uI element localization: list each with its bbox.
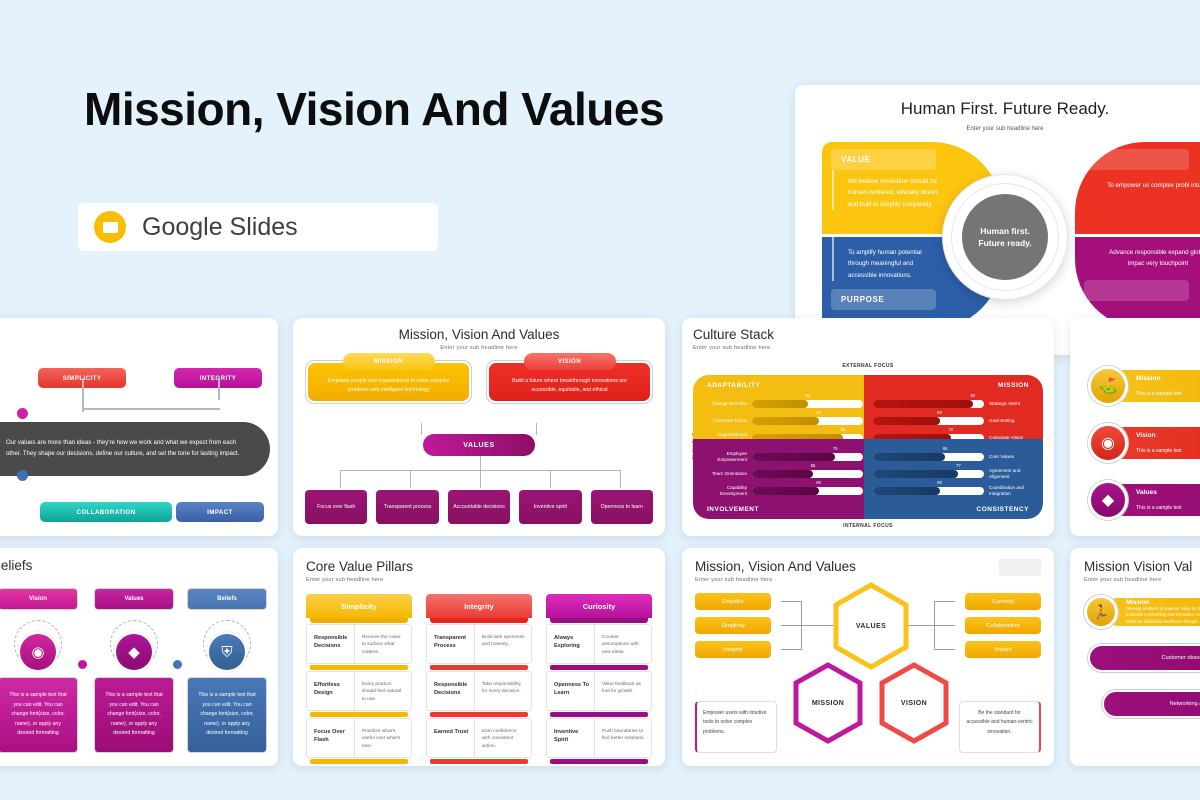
quadrant-label: CONSISTENCY xyxy=(977,506,1029,513)
bars-consistency: 65 Core Values 77 Agreement and Alignmen… xyxy=(864,439,1043,499)
culture-stack-chart: EXTERNAL FOCUS INTERNAL FOCUS FLEXIBLE S… xyxy=(693,364,1043,527)
hero-center-label: Human first. Future ready. xyxy=(962,194,1048,280)
eye-icon: ◉ xyxy=(20,634,56,670)
pillar-columns: Simplicity Responsible DecisionsRemove t… xyxy=(306,594,652,764)
pillar-val: Build with openness and honesty. xyxy=(475,625,531,663)
values-center-text: Our values are more than ideas - they're… xyxy=(0,438,244,459)
values-timeline-card[interactable]: SIMPLICITY INTEGRITY LUES Our values are… xyxy=(0,318,278,536)
hero-text-vision: To empower us complex probl intuitiv xyxy=(1075,170,1200,191)
mh-bar-mission: Mission Develop products of superior val… xyxy=(1104,598,1200,626)
hero-quadrant-vision: To empower us complex probl intuitiv xyxy=(1075,142,1200,234)
vision-box: Build a future where breakthrough innova… xyxy=(486,360,653,404)
bar-value: 60 xyxy=(816,410,821,415)
pillar-key: Openness To Learn xyxy=(547,672,595,710)
diamond-icon: ◆ xyxy=(116,634,152,670)
mvv-tree-card[interactable]: Mission, Vision And Values Enter your su… xyxy=(293,318,665,536)
mh-label: Customer obsession xyxy=(1162,655,1200,661)
mvv-row-mission: ⛳ Mission This is a sample text xyxy=(1088,366,1200,406)
pillar-key: Earned Trust xyxy=(427,719,475,757)
dot-blue xyxy=(17,470,28,481)
slides-icon xyxy=(94,211,126,243)
mvb-body: This is a sample text that you can edit.… xyxy=(0,677,78,753)
bar-value: 82 xyxy=(841,427,846,432)
mvb-column: Beliefs ⛨ This is a sample text that you… xyxy=(187,588,267,753)
quadrant-label: MISSION xyxy=(998,382,1029,389)
pillar-head: Simplicity xyxy=(306,594,412,618)
bar-label: Coordination and Integration xyxy=(989,485,1035,497)
hero-tag-vision xyxy=(1084,149,1189,170)
bar-label: Employee Empowerment xyxy=(701,451,747,463)
page-title: Mission, Vision And Values xyxy=(84,82,664,136)
pillar-column: Integrity Transparent ProcessBuild with … xyxy=(426,594,532,764)
pillar-item: Openness To LearnValue feedback as fuel … xyxy=(546,671,652,711)
mvb-head: Beliefs xyxy=(187,588,267,610)
pill-collaboration: COLLABORATION xyxy=(40,502,172,522)
leaf-item: Focus over flash xyxy=(305,490,367,524)
hero-text-purpose: To amplify human potential through meani… xyxy=(832,237,952,281)
card-c-subtitle: Enter your sub headline here xyxy=(693,345,1043,351)
pillar-head: Curiosity xyxy=(546,594,652,618)
pillar-item: Always ExploringCounter assumptions with… xyxy=(546,624,652,664)
bar-value: 60 xyxy=(937,410,942,415)
eye-icon: ◉ xyxy=(1088,423,1128,463)
pillar-key: Focus Over Flash xyxy=(307,719,355,757)
culture-stack-card[interactable]: Culture Stack Enter your sub headline he… xyxy=(682,318,1054,536)
bar-label: Team Orientation xyxy=(701,471,747,477)
shield-icon: ⛨ xyxy=(209,634,245,670)
mission-cap: MISSION xyxy=(343,353,435,370)
dot-collaboration xyxy=(17,408,28,419)
mh-bar-networking: Networking & partnership ⚯ xyxy=(1102,690,1200,718)
bar-label: Goal-Setting xyxy=(989,418,1035,424)
google-slides-badge[interactable]: Google Slides xyxy=(78,203,438,251)
bars-involvement: Employee Empowerment 75 Team Orientation… xyxy=(693,439,872,499)
mission-text: Empower people and organizations to solv… xyxy=(308,377,469,395)
mvv-label: Vision xyxy=(1136,432,1200,439)
pillar-key: Effortless Design xyxy=(307,672,355,710)
hero-slide-card[interactable]: Human First. Future Ready. Enter your su… xyxy=(795,85,1200,355)
mvv-label: Values xyxy=(1136,489,1200,496)
axis-internal-focus: INTERNAL FOCUS xyxy=(843,523,893,529)
bar-label: Capability Development xyxy=(701,485,747,497)
quadrant-label: INVOLVEMENT xyxy=(707,506,759,513)
bar-label: Change Direction xyxy=(701,401,747,407)
mvb-column: Values ◆ This is a sample text that you … xyxy=(94,588,174,753)
pillar-item: Focus Over FlashPrioritize what's useful… xyxy=(306,718,412,758)
google-slides-label: Google Slides xyxy=(142,213,298,242)
quadrant-label: ADAPTABILITY xyxy=(707,382,760,389)
card-b-title: Mission, Vision And Values xyxy=(305,327,653,342)
pillar-item: Inventive SpiritPush boundaries to find … xyxy=(546,718,652,758)
mh-bar-customer: Customer obsession ◎ xyxy=(1088,644,1200,672)
hero-center-line1: Human first. xyxy=(980,226,1030,236)
hero-diagram: VALUE We believe innovation should be hu… xyxy=(795,142,1200,332)
card-g-title: Mission, Vision And Values xyxy=(695,559,1041,574)
card-b-subtitle: Enter your sub headline here xyxy=(305,345,653,351)
bar-value: 55 xyxy=(811,463,816,468)
hero-center-line2: Future ready. xyxy=(978,238,1031,248)
small-dot xyxy=(173,660,182,669)
bar-value: 90 xyxy=(971,393,976,398)
hero-tag-mission xyxy=(1084,280,1189,301)
mh-row-networking: Networking & partnership ⚯ xyxy=(1102,689,1200,719)
hero-text-value: We believe innovation should be human-ce… xyxy=(832,170,952,210)
mission-values-beliefs-card[interactable]: n, Values, And Beliefs ◉ This is a sampl… xyxy=(0,548,278,766)
mission-vision-values-list-card[interactable]: Mission Vision Val Enter your sub headli… xyxy=(1070,548,1200,766)
pillar-val: Counter assumptions with new ideas. xyxy=(595,625,651,663)
mvb-column: Vision ◉ This is a sample text that you … xyxy=(0,588,78,753)
pill-impact: IMPACT xyxy=(176,502,264,522)
mission-box: Empower people and organizations to solv… xyxy=(305,360,472,404)
pillar-item: Earned TrustEarn confidence with consist… xyxy=(426,718,532,758)
pillar-item: Effortless DesignEvery product should fe… xyxy=(306,671,412,711)
mh-row-mission: 🏃 Mission Develop products of superior v… xyxy=(1084,597,1200,627)
runner-icon: 🏃 xyxy=(1084,595,1118,629)
bar-value: 75 xyxy=(833,446,838,451)
bar-label: Customer Focus xyxy=(701,418,747,424)
leaf-item: Transparent process xyxy=(376,490,438,524)
axis-external-focus: EXTERNAL FOCUS xyxy=(842,363,893,369)
hero-subtitle: Enter your sub headline here xyxy=(795,126,1200,132)
leaf-item: Openness to learn xyxy=(591,490,653,524)
mvv-row-values: ◆ Values This is a sample text xyxy=(1088,480,1200,520)
values-center-bar: LUES Our values are more than ideas - th… xyxy=(0,422,270,476)
mvv-label: Mission xyxy=(1136,375,1200,382)
pillar-key: Responsible Decisions xyxy=(307,625,355,663)
pillar-val: Remove the noise to surface what matters… xyxy=(355,625,411,663)
bar-value: 65 xyxy=(943,446,948,451)
bar-label: Core Values xyxy=(989,454,1035,460)
pillar-column: Curiosity Always ExploringCounter assump… xyxy=(546,594,652,764)
hero-quadrant-mission: Advance responsible expand global impac … xyxy=(1075,237,1200,329)
hexagon-mission-label: MISSION xyxy=(791,661,865,745)
bar-value: 50 xyxy=(805,393,810,398)
hero-tag-purpose: PURPOSE xyxy=(831,289,936,310)
mvv-top-row: Empower people and organizations to solv… xyxy=(305,360,653,404)
bar-label: Strategic Intent xyxy=(989,401,1035,407)
pillar-val: Value feedback as fuel for growth. xyxy=(595,672,651,710)
mh-row-customer-obsession: Customer obsession ◎ xyxy=(1088,643,1200,673)
mvv-icon-list-card[interactable]: ⛳ Mission This is a sample text ◉ Vision… xyxy=(1070,318,1200,536)
vision-text: Build a future where breakthrough innova… xyxy=(489,377,650,395)
pill-empathy: Empathy xyxy=(695,593,771,610)
pillar-head: Integrity xyxy=(426,594,532,618)
hero-text-mission: Advance responsible expand global impac … xyxy=(1075,237,1200,270)
mh-label: Mission xyxy=(1126,599,1149,606)
pill-impact: Impact xyxy=(965,641,1041,658)
values-leaf-row: Focus over flash Transparent process Acc… xyxy=(305,490,653,524)
hexagon-diagram: Empathy Simplicity Integrity Curiosity C… xyxy=(695,589,1041,757)
template-logo-icon xyxy=(999,559,1041,576)
pillar-item: Responsible DecisionsTake responsibility… xyxy=(426,671,532,711)
diamond-icon: ◆ xyxy=(1088,480,1128,520)
hero-center-ring: Human first. Future ready. xyxy=(943,175,1067,299)
pill-collaboration: Collaboration xyxy=(965,617,1041,634)
pillar-item: Responsible DecisionsRemove the noise to… xyxy=(306,624,412,664)
hexagon-vision-label: VISION xyxy=(877,661,951,745)
pillar-val: Take responsibility for every decision. xyxy=(475,672,531,710)
card-e-title: n, Values, And Beliefs xyxy=(0,558,278,573)
mvv-text: This is a sample text xyxy=(1136,448,1182,454)
leaf-item: Accountable decisions xyxy=(448,490,510,524)
bar-value: 60 xyxy=(937,480,942,485)
mh-label: Networking & partnership xyxy=(1170,701,1200,707)
hero-title: Human First. Future Ready. xyxy=(795,99,1200,119)
pillar-val: Earn confidence with consistent action. xyxy=(475,719,531,757)
pill-simplicity: Simplicity xyxy=(695,617,771,634)
mvb-head: Values xyxy=(94,588,174,610)
mvb-body: This is a sample text that you can edit.… xyxy=(187,677,267,753)
core-value-pillars-card[interactable]: Core Value Pillars Enter your sub headli… xyxy=(293,548,665,766)
pillar-val: Push boundaries to find better solutions… xyxy=(595,719,651,757)
pillar-key: Inventive Spirit xyxy=(547,719,595,757)
vision-cap: VISION xyxy=(524,353,616,370)
note-left: Empower users with intuitive tools to so… xyxy=(695,701,777,753)
card-h-title: Mission Vision Val xyxy=(1084,559,1200,574)
card-f-title: Core Value Pillars xyxy=(306,559,652,574)
bar-value: 77 xyxy=(956,463,961,468)
pillar-key: Always Exploring xyxy=(547,625,595,663)
mh-line3: Strive for individual excellence through xyxy=(1126,619,1198,625)
note-right: Be the standard for accessible and human… xyxy=(959,701,1041,753)
pill-curiosity: Curiosity xyxy=(965,593,1041,610)
mvv-text: This is a sample text xyxy=(1136,505,1182,511)
hexagon-mvv-card[interactable]: Mission, Vision And Values Enter your su… xyxy=(682,548,1054,766)
mvv-text: This is a sample text xyxy=(1136,391,1182,397)
pillar-item: Transparent ProcessBuild with openness a… xyxy=(426,624,532,664)
bar-label: Agreement and Alignment xyxy=(989,468,1035,480)
hero-tag-value: VALUE xyxy=(831,149,936,170)
bar-value: 60 xyxy=(816,480,821,485)
card-f-subtitle: Enter your sub headline here xyxy=(306,577,652,583)
pillar-key: Responsible Decisions xyxy=(427,672,475,710)
hexagon-values-label: VALUES xyxy=(831,581,911,671)
small-dot xyxy=(78,660,87,669)
leaf-item: Inventive spirit xyxy=(519,490,581,524)
values-node: VALUES xyxy=(423,434,535,456)
pillar-column: Simplicity Responsible DecisionsRemove t… xyxy=(306,594,412,764)
quadrant-involvement: INVOLVEMENT Employee Empowerment 75 Team… xyxy=(693,439,872,519)
mvb-head: Vision xyxy=(0,588,78,610)
pillar-val: Prioritize what's useful over what's new… xyxy=(355,719,411,757)
card-h-subtitle: Enter your sub headline here xyxy=(1084,577,1200,583)
pill-integrity: Integrity xyxy=(695,641,771,658)
mvv-row-vision: ◉ Vision This is a sample text xyxy=(1088,423,1200,463)
bar-value: 70 xyxy=(948,427,953,432)
pillar-val: Every product should feel natural to use… xyxy=(355,672,411,710)
mvb-body: This is a sample text that you can edit.… xyxy=(94,677,174,753)
flag-icon: ⛳ xyxy=(1088,366,1128,406)
quadrant-consistency: CONSISTENCY 65 Core Values 77 Agreement … xyxy=(864,439,1043,519)
card-c-title: Culture Stack xyxy=(693,327,1043,342)
pillar-key: Transparent Process xyxy=(427,625,475,663)
